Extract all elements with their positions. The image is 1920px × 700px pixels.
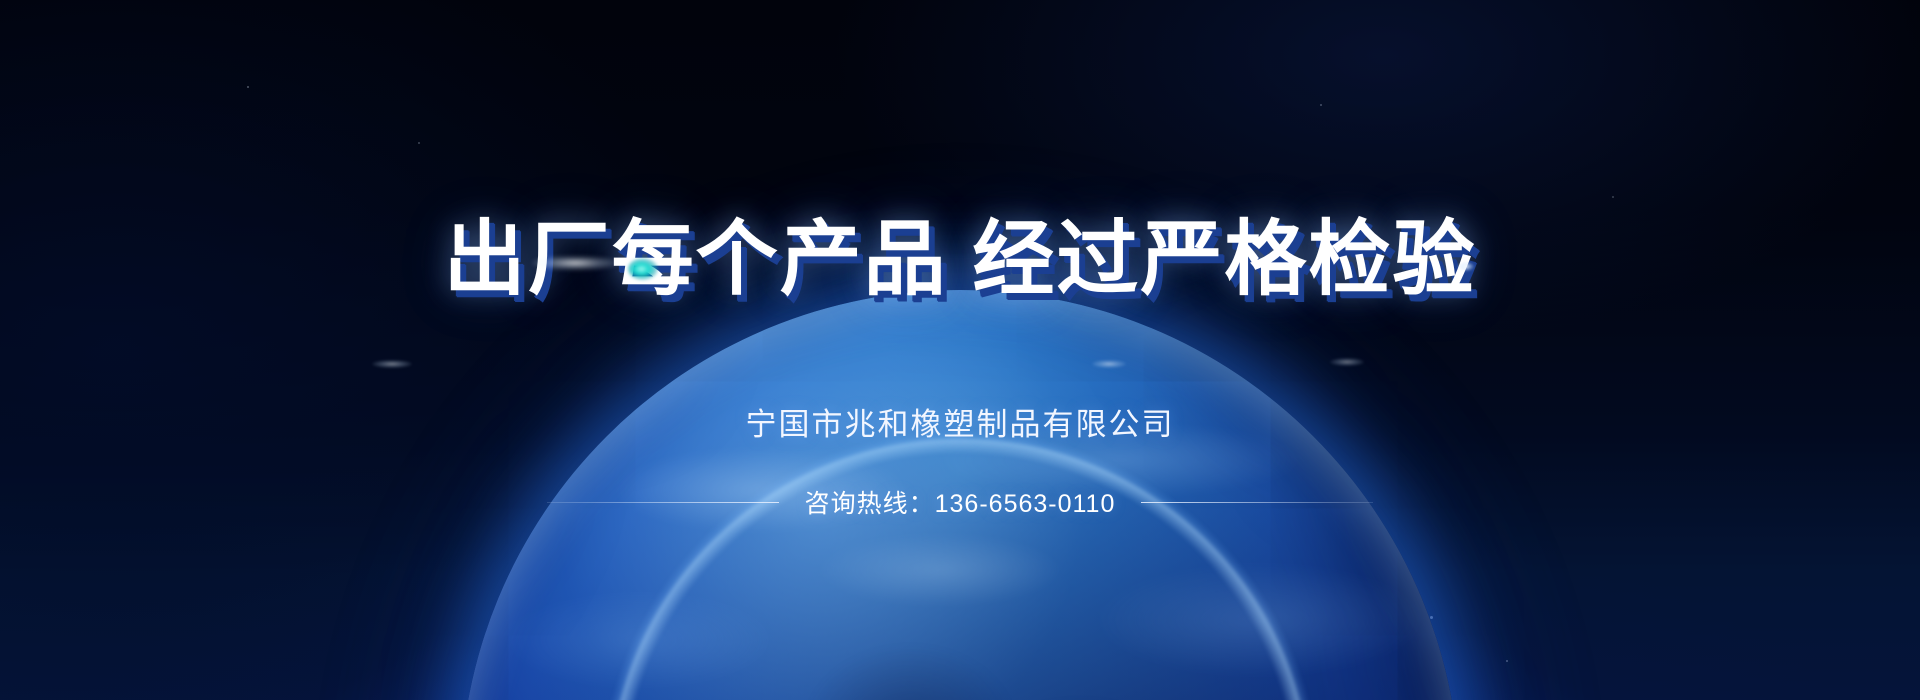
rule-left (547, 502, 779, 503)
hotline-row: 咨询热线：136-6563-0110 (0, 484, 1920, 520)
banner-content: 出厂每个产品 经过严格检验 宁国市兆和橡塑制品有限公司 咨询热线：136-656… (0, 0, 1920, 700)
lens-flare-icon (372, 360, 412, 368)
lens-flare-icon (1092, 360, 1126, 368)
promo-banner: 出厂每个产品 经过严格检验 宁国市兆和橡塑制品有限公司 咨询热线：136-656… (0, 0, 1920, 700)
lens-flare-streak-icon (532, 256, 618, 270)
lens-flare-icon (1330, 358, 1364, 366)
hotline-text: 咨询热线：136-6563-0110 (805, 484, 1116, 520)
cyan-sparkle-icon (628, 258, 658, 280)
banner-headline: 出厂每个产品 经过严格检验 (0, 213, 1920, 307)
lens-flare-icon (1458, 262, 1474, 271)
rule-right (1141, 502, 1373, 503)
company-name: 宁国市兆和橡塑制品有限公司 (0, 399, 1920, 444)
